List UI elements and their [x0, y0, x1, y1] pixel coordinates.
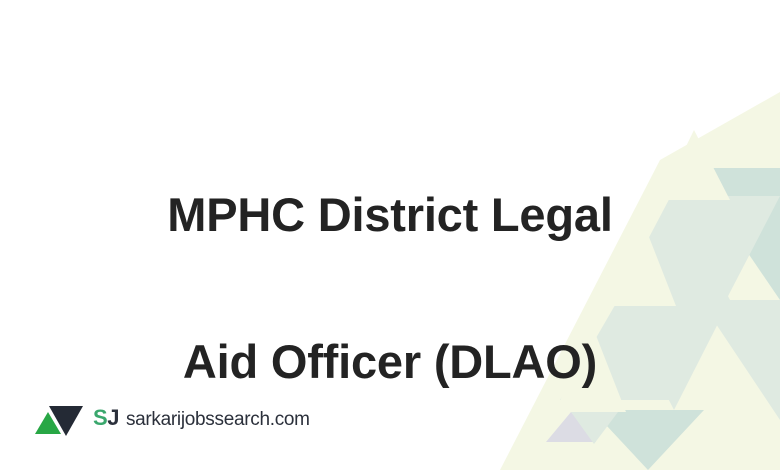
headline-line-2: Aid Officer (DLAO): [100, 325, 680, 399]
logo-wordmark: SJ sarkarijobssearch.com: [93, 405, 310, 431]
logo-domain-text: sarkarijobssearch.com: [126, 409, 310, 431]
promo-banner: MPHC District Legal Aid Officer (DLAO) R…: [0, 0, 780, 470]
logo-initial-s: S: [93, 405, 107, 430]
headline-line-1: MPHC District Legal: [100, 178, 680, 252]
logo-initial-j: J: [107, 405, 119, 430]
site-logo[interactable]: SJ sarkarijobssearch.com: [33, 396, 310, 440]
sj-triangle-logo-mark: [33, 398, 85, 438]
logo-initials: SJ: [93, 405, 119, 431]
